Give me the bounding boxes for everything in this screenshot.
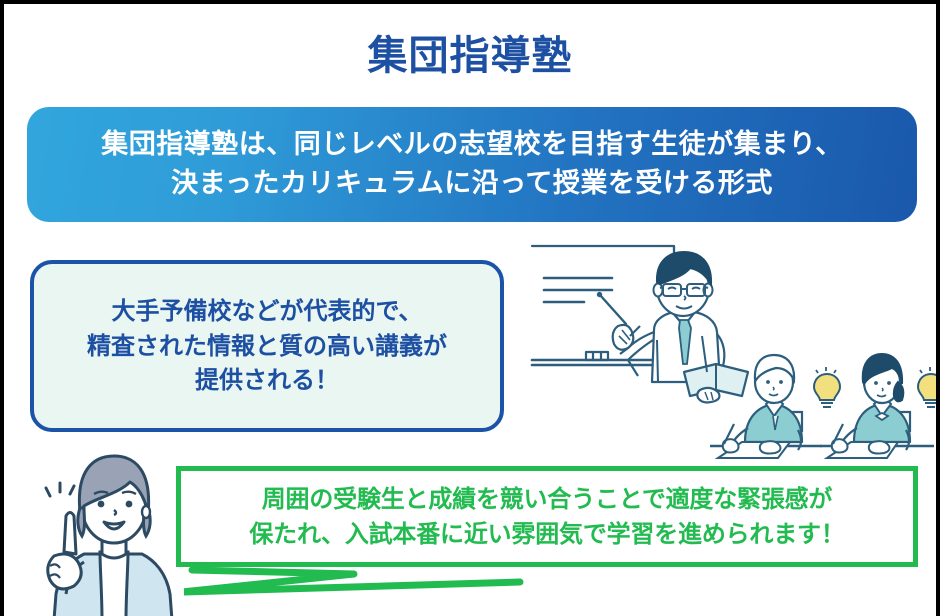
benefit-line-1: 周囲の受験生と成績を競い合うことで適度な緊張感が <box>249 482 844 516</box>
speech-bubble-tail <box>184 560 524 600</box>
description-banner-line-2: 決まったカリキュラムに沿って授業を受ける形式 <box>101 165 842 203</box>
infographic-page: 集団指導塾 集団指導塾は、同じレベルの志望校を目指す生徒が集まり、 決まったカリ… <box>0 0 940 616</box>
lightbulb-idea-icon <box>814 367 840 407</box>
description-banner-line-1: 集団指導塾は、同じレベルの志望校を目指す生徒が集まり、 <box>101 126 842 164</box>
benefit-speech-bubble: 周囲の受験生と成績を競い合うことで適度な緊張感が 保たれ、入試本番に近い雰囲気で… <box>176 466 918 567</box>
benefit-line-2: 保たれ、入試本番に近い雰囲気で学習を進められます！ <box>249 517 844 551</box>
pointing-woman-illustration <box>22 444 212 616</box>
feature-callout-line-1: 大手予備校などが代表的で、 <box>87 294 447 329</box>
feature-callout: 大手予備校などが代表的で、 精査された情報と質の高い講義が 提供される！ <box>30 260 504 432</box>
teacher-figure <box>613 246 748 402</box>
lightbulb-idea-icon <box>918 367 940 407</box>
page-title: 集団指導塾 <box>4 34 936 78</box>
benefit-speech-bubble-text: 周囲の受験生と成績を競い合うことで適度な緊張感が 保たれ、入試本番に近い雰囲気で… <box>249 482 844 550</box>
feature-callout-text: 大手予備校などが代表的で、 精査された情報と質の高い講義が 提供される！ <box>87 294 447 398</box>
description-banner-text: 集団指導塾は、同じレベルの志望校を目指す生徒が集まり、 決まったカリキュラムに沿… <box>87 126 856 203</box>
sparkle-marks <box>46 483 74 496</box>
classroom-illustration <box>502 232 940 460</box>
feature-callout-line-3: 提供される！ <box>87 363 447 398</box>
description-banner: 集団指導塾は、同じレベルの志望校を目指す生徒が集まり、 決まったカリキュラムに沿… <box>27 107 917 222</box>
feature-callout-line-2: 精査された情報と質の高い講義が <box>87 329 447 364</box>
student-female-figure <box>820 354 940 458</box>
